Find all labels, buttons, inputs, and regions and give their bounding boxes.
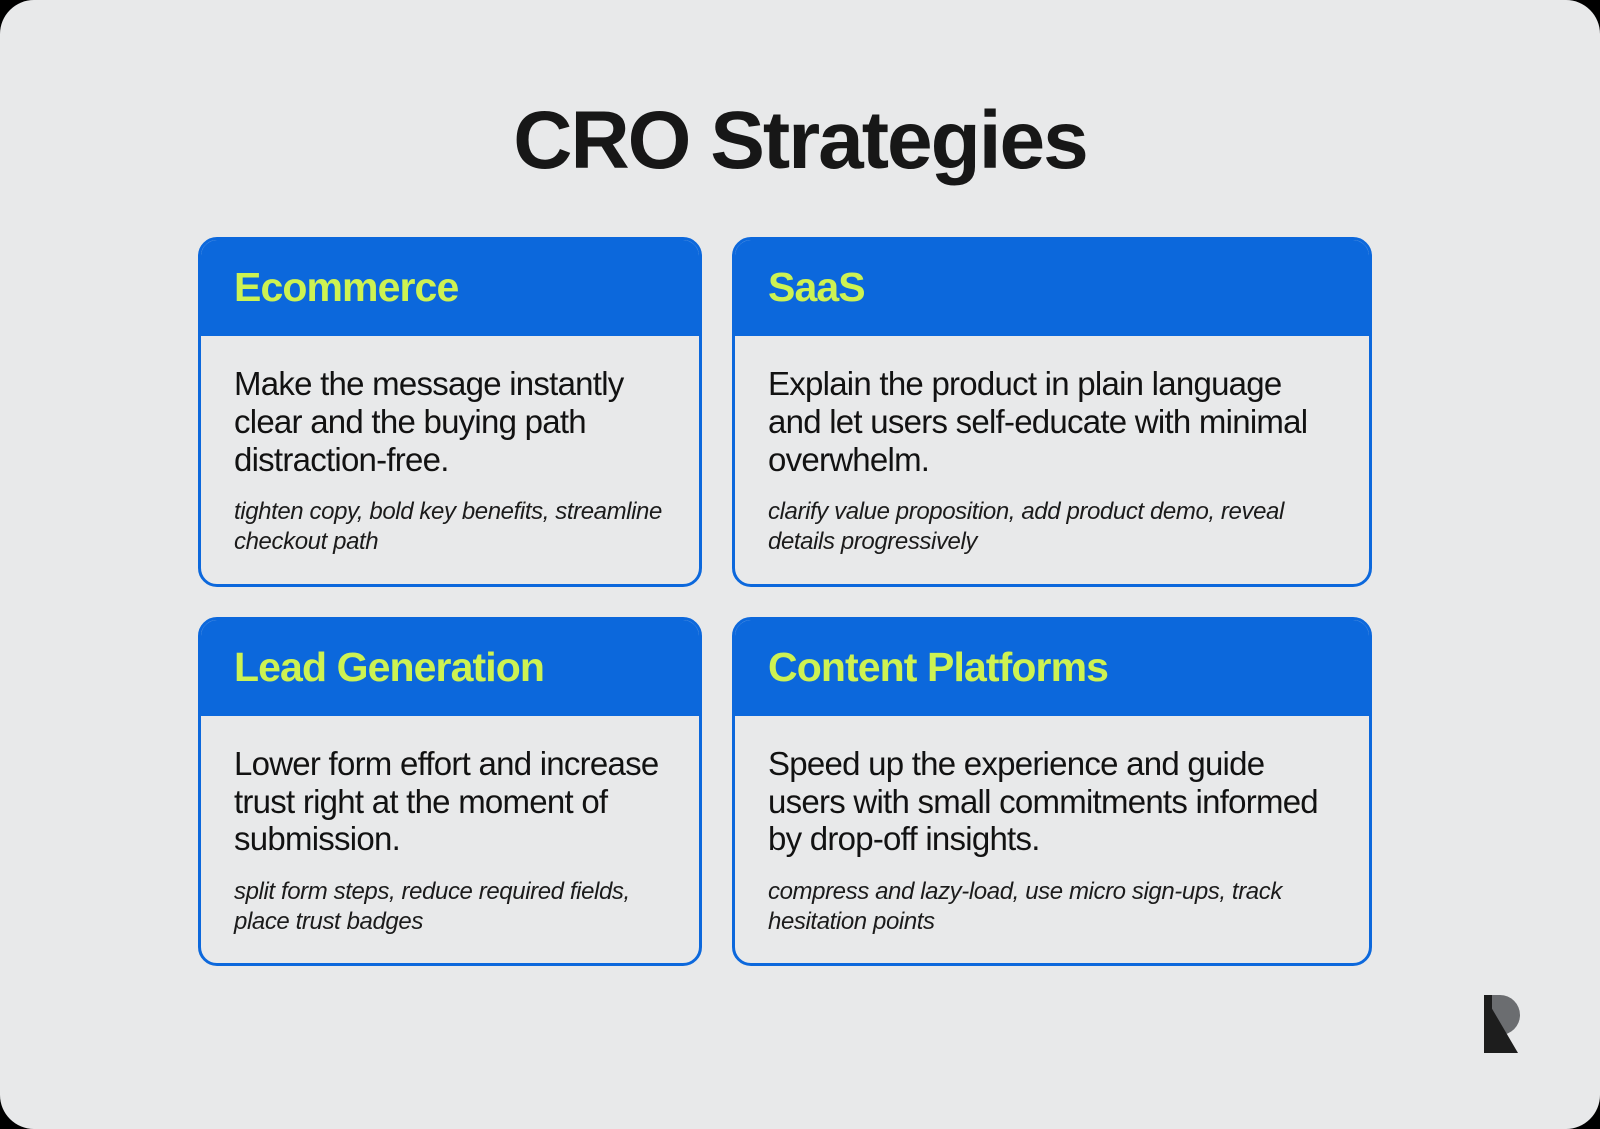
page-title: CRO Strategies bbox=[0, 0, 1600, 184]
card-header: Content Platforms bbox=[735, 620, 1369, 716]
card-header: Ecommerce bbox=[201, 240, 699, 336]
strategy-card-saas: SaaS Explain the product in plain langua… bbox=[732, 237, 1372, 587]
strategy-card-ecommerce: Ecommerce Make the message instantly cle… bbox=[198, 237, 702, 587]
card-tactics: tighten copy, bold key benefits, streaml… bbox=[234, 497, 666, 557]
card-body: Speed up the experience and guide users … bbox=[735, 716, 1369, 963]
card-description: Explain the product in plain language an… bbox=[768, 365, 1336, 478]
strategy-card-content-platforms: Content Platforms Speed up the experienc… bbox=[732, 617, 1372, 967]
card-tactics: compress and lazy-load, use micro sign-u… bbox=[768, 877, 1336, 937]
card-description: Speed up the experience and guide users … bbox=[768, 745, 1336, 858]
r-logo-mark-icon bbox=[1466, 985, 1522, 1059]
card-tactics: split form steps, reduce required fields… bbox=[234, 877, 666, 937]
strategy-card-grid: Ecommerce Make the message instantly cle… bbox=[198, 184, 1372, 966]
card-body: Lower form effort and increase trust rig… bbox=[201, 716, 699, 963]
card-description: Make the message instantly clear and the… bbox=[234, 365, 666, 478]
card-title: Ecommerce bbox=[234, 265, 666, 309]
strategy-card-lead-generation: Lead Generation Lower form effort and in… bbox=[198, 617, 702, 967]
card-body: Make the message instantly clear and the… bbox=[201, 336, 699, 583]
card-tactics: clarify value proposition, add product d… bbox=[768, 497, 1336, 557]
poster-canvas: CRO Strategies Ecommerce Make the messag… bbox=[0, 0, 1600, 1129]
card-title: Content Platforms bbox=[768, 645, 1336, 689]
card-title: Lead Generation bbox=[234, 645, 666, 689]
card-header: Lead Generation bbox=[201, 620, 699, 716]
card-title: SaaS bbox=[768, 265, 1336, 309]
card-header: SaaS bbox=[735, 240, 1369, 336]
card-body: Explain the product in plain language an… bbox=[735, 336, 1369, 583]
card-description: Lower form effort and increase trust rig… bbox=[234, 745, 666, 858]
